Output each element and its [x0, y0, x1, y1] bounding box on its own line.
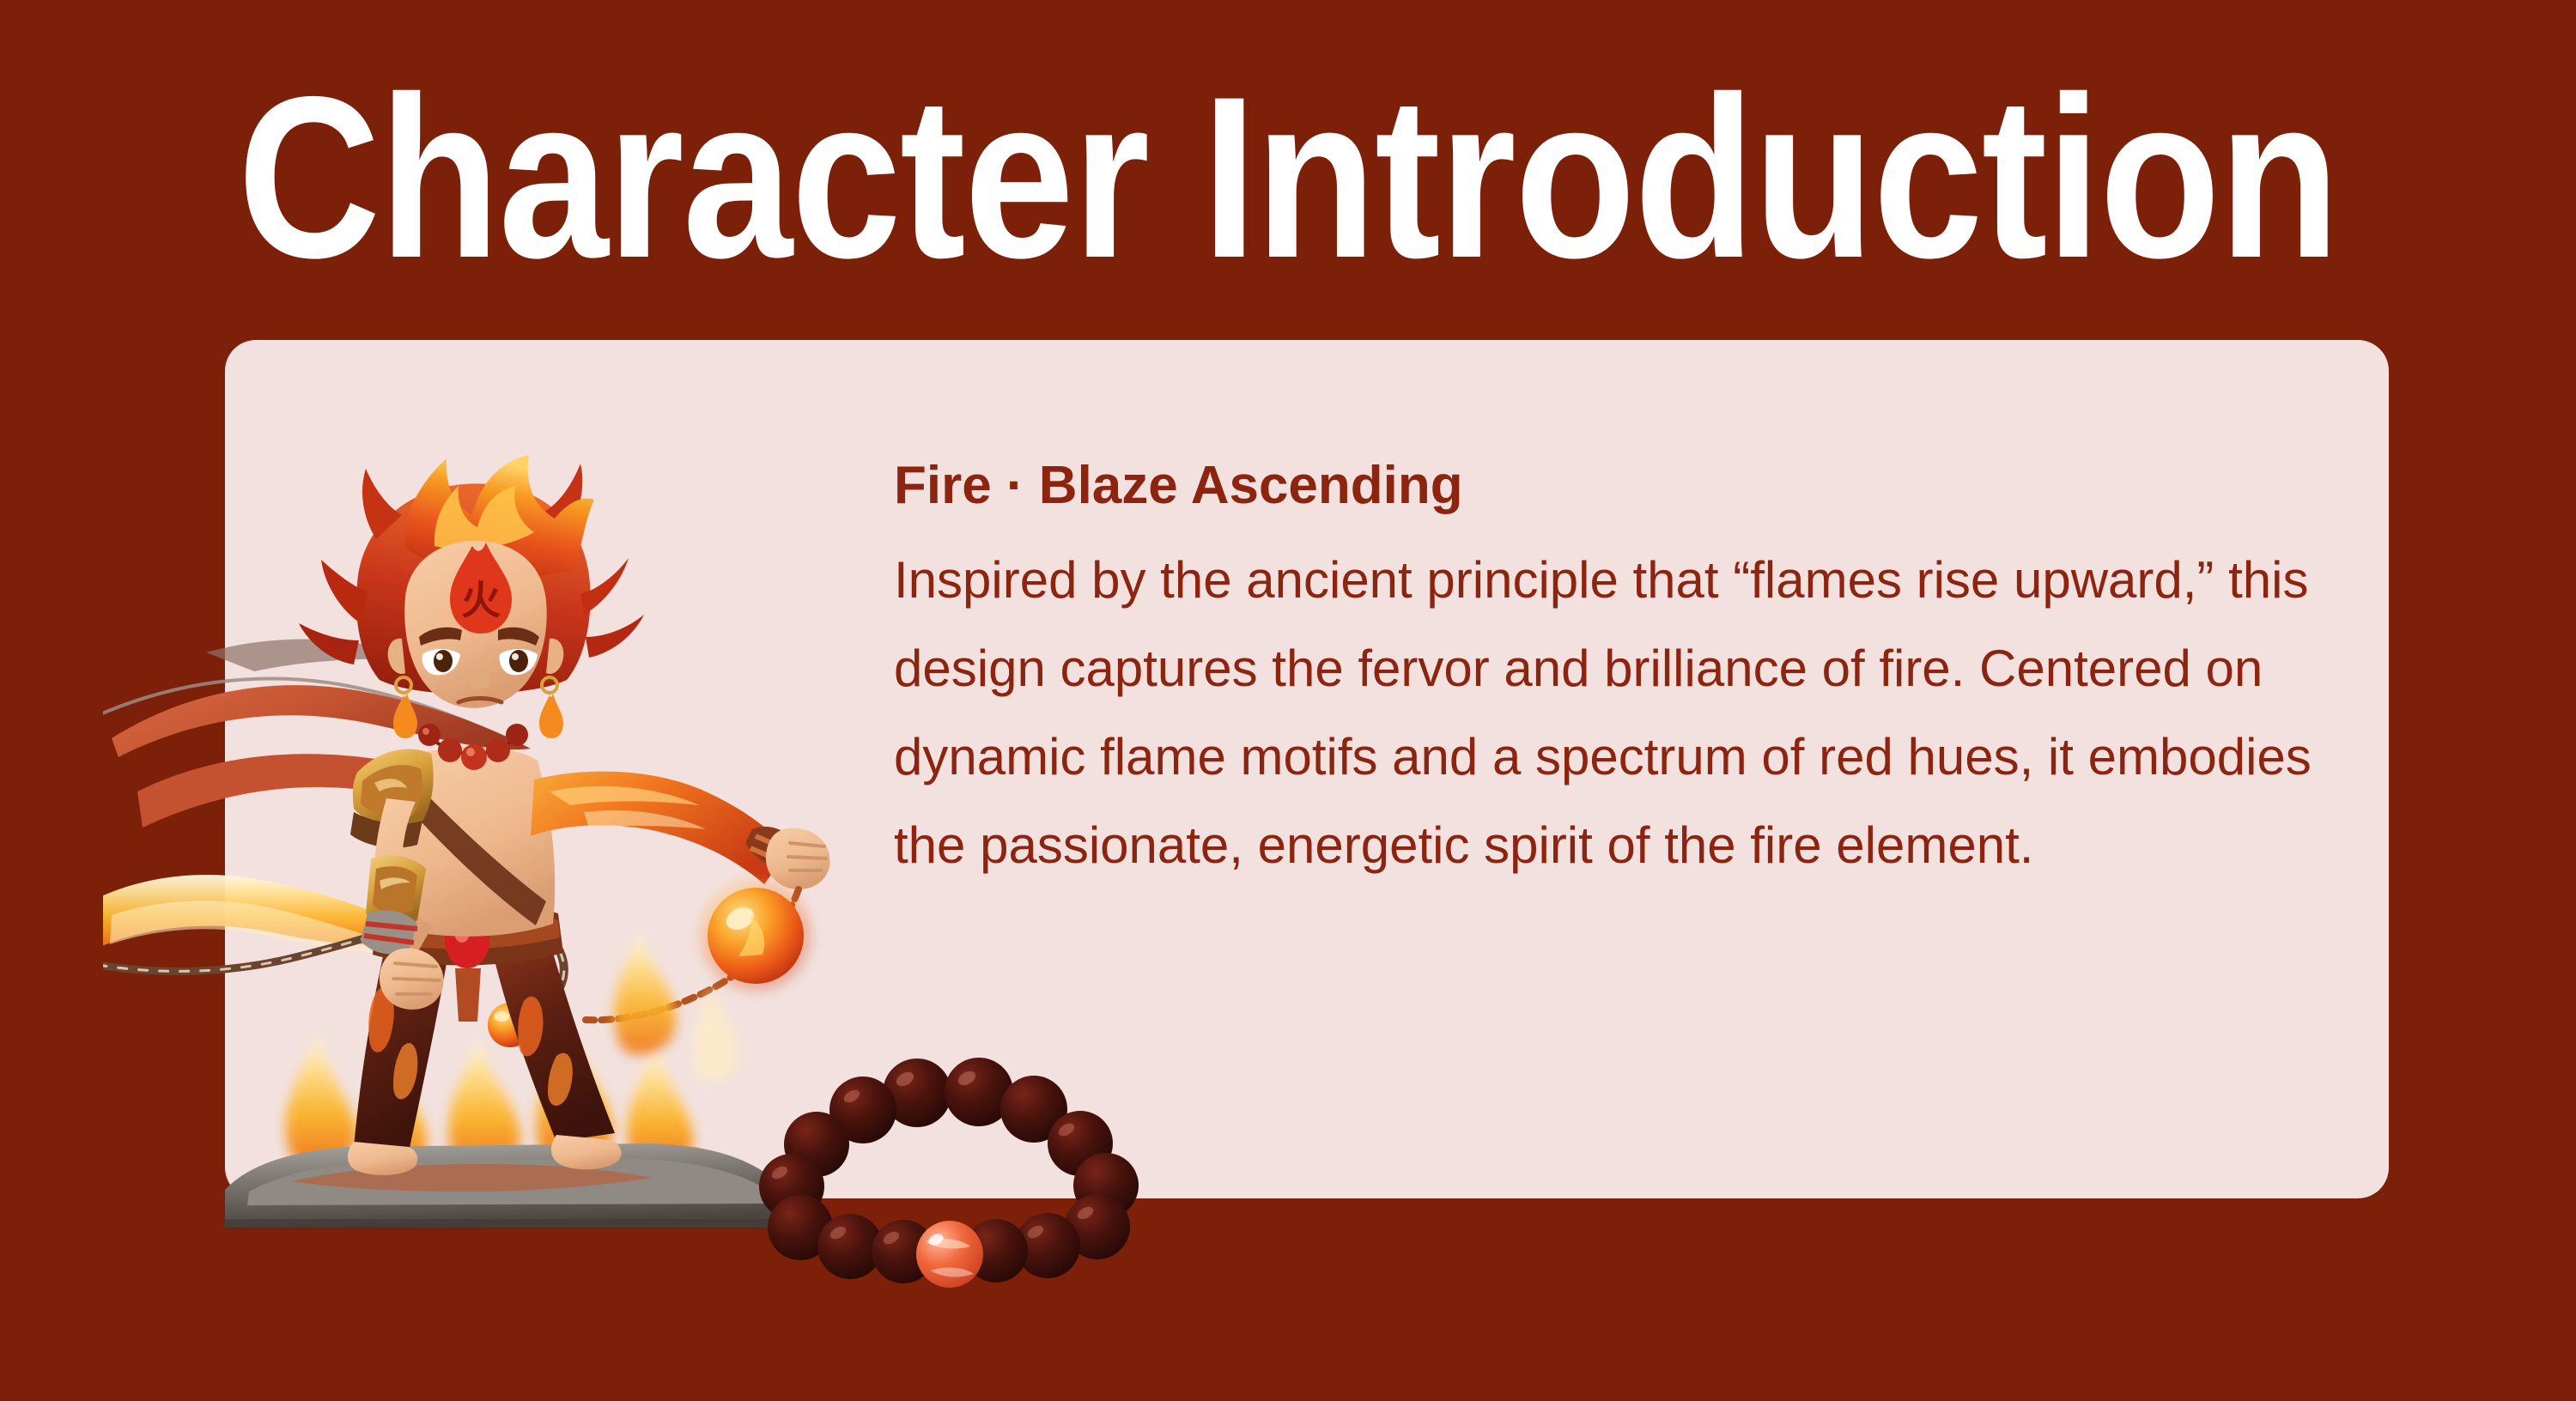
character-illustration: 火 — [103, 455, 859, 1245]
character-text-column: Fire · Blaze Ascending Inspired by the a… — [894, 458, 2379, 889]
right-arm-flame-sleeve — [531, 772, 830, 889]
rock-base — [225, 1143, 792, 1229]
page-title: Character Introduction — [180, 62, 2396, 292]
character-description: Inspired by the ancient principle that “… — [894, 536, 2354, 889]
bracelet-beads — [759, 1058, 1139, 1288]
bracelet-product-photo — [749, 1056, 1152, 1313]
fire-kanji-glyph: 火 — [461, 577, 501, 623]
character-subtitle: Fire · Blaze Ascending — [894, 458, 2379, 513]
